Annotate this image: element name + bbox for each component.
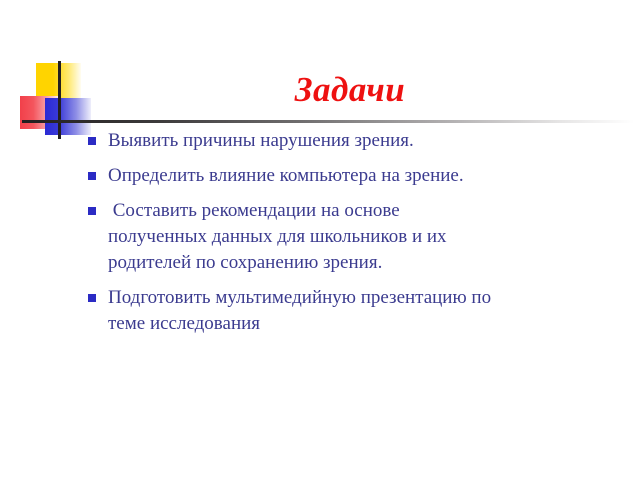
list-item: Определить влияние компьютера на зрение. [88,163,558,189]
slide: Задачи Выявить причины нарушения зрения.… [0,0,640,480]
yellow-square-icon [36,63,81,106]
list-item: Подготовить мультимедийную презентацию п… [88,285,558,337]
bullet-square-icon [88,207,96,215]
list-item: Выявить причины нарушения зрения. [88,128,558,154]
bullet-square-icon [88,172,96,180]
list-item: Составить рекомендации на основе получен… [88,198,558,276]
vertical-rule-icon [58,61,61,139]
bullet-square-icon [88,137,96,145]
blue-square-icon [45,98,91,135]
bullet-square-icon [88,294,96,302]
horizontal-rule [22,120,634,123]
list-item-label: Выявить причины нарушения зрения. [108,128,558,154]
bullet-list: Выявить причины нарушения зрения. Опреде… [88,128,558,346]
list-item-label: Составить рекомендации на основе получен… [108,198,468,276]
red-square-icon [20,96,58,129]
list-item-label: Определить влияние компьютера на зрение. [108,163,558,189]
slide-title: Задачи [140,70,560,110]
list-item-label: Подготовить мультимедийную презентацию п… [108,285,508,337]
